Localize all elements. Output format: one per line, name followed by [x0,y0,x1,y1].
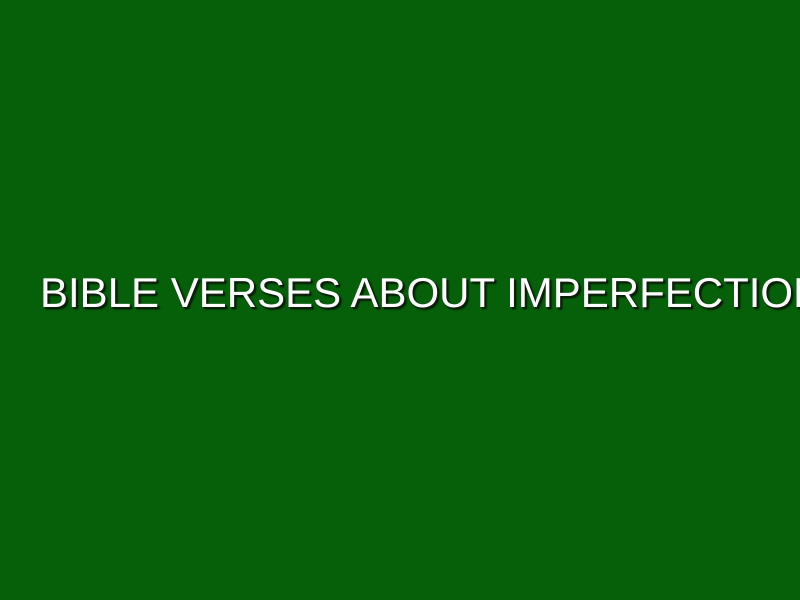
title-block: BIBLE VERSES ABOUT IMPERFECTIONS [0,270,800,316]
title-card: BIBLE VERSES ABOUT IMPERFECTIONS [0,0,800,600]
page-title: BIBLE VERSES ABOUT IMPERFECTIONS [40,270,800,316]
